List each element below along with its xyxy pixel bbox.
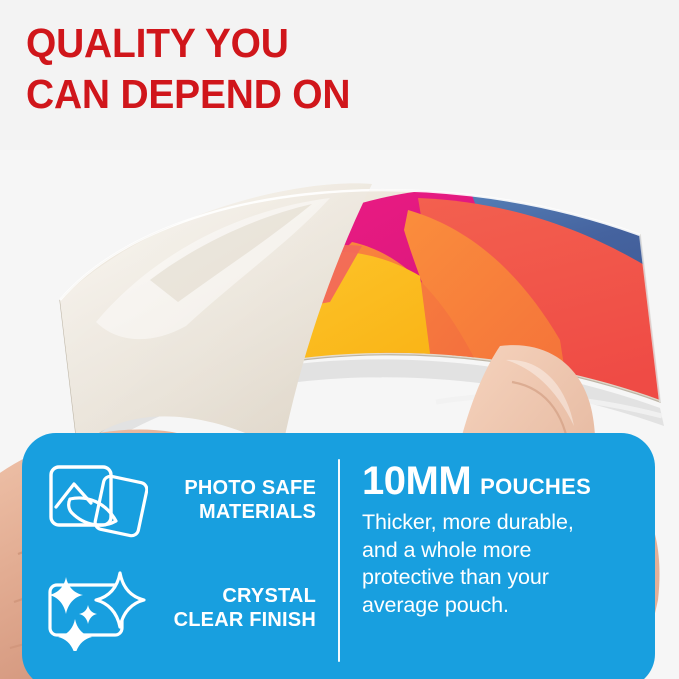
spec-description-line-3: protective than your	[362, 564, 622, 592]
feature-label-crystal-clear: CRYSTAL CLEAR FINISH	[162, 585, 322, 632]
sparkle-clear-icon	[44, 565, 152, 653]
spec-heading: 10MM POUCHES	[362, 461, 635, 501]
page-title: QUALITY YOU CAN DEPEND ON	[26, 18, 596, 121]
feature-label-line-1: PHOTO SAFE	[162, 477, 316, 501]
feature-label-line-1: CRYSTAL	[162, 585, 316, 609]
spec-description-line-2: and a whole more	[362, 537, 622, 565]
spec-description: Thicker, more durable, and a whole more …	[362, 509, 622, 620]
spec-block: 10MM POUCHES Thicker, more durable, and …	[340, 433, 655, 679]
product-marketing-image: QUALITY YOU CAN DEPEND ON	[0, 0, 679, 679]
spec-product: POUCHES	[480, 476, 591, 498]
feature-label-line-2: CLEAR FINISH	[162, 609, 316, 633]
feature-label-photo-safe: PHOTO SAFE MATERIALS	[162, 477, 322, 524]
spec-description-line-1: Thicker, more durable,	[362, 509, 622, 537]
photo-safe-icon	[44, 457, 152, 545]
panel-divider	[338, 459, 340, 662]
headline-line-2: CAN DEPEND ON	[26, 69, 596, 120]
spec-description-line-4: average pouch.	[362, 592, 622, 620]
feature-label-line-2: MATERIALS	[162, 501, 316, 525]
feature-item-photo-safe: PHOTO SAFE MATERIALS	[44, 455, 322, 547]
photo-safe-icon-svg	[44, 459, 148, 543]
feature-list: PHOTO SAFE MATERIALS	[22, 433, 338, 679]
feature-item-crystal-clear: CRYSTAL CLEAR FINISH	[44, 563, 322, 655]
feature-panel: PHOTO SAFE MATERIALS	[22, 433, 655, 679]
headline-line-1: QUALITY YOU	[26, 18, 596, 69]
sparkle-clear-icon-svg	[44, 567, 148, 651]
spec-size: 10MM	[362, 461, 471, 501]
